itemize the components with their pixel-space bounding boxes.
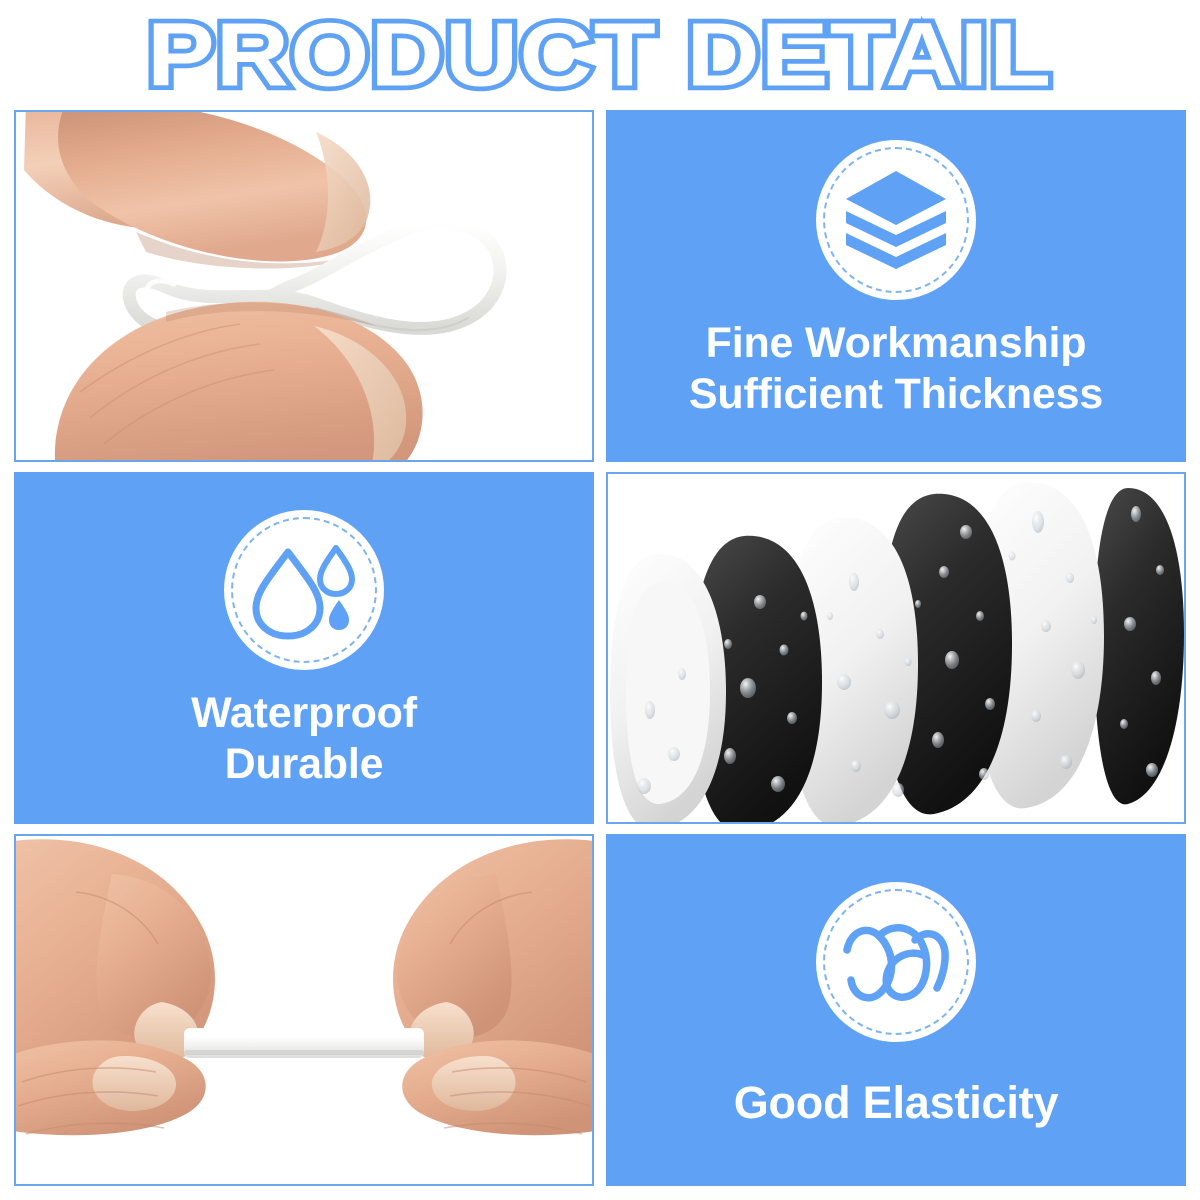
photo-panel-stretch-band: [14, 834, 594, 1186]
layers-icon-badge: [816, 140, 976, 300]
feature-panel-waterproof: Waterproof Durable: [14, 472, 594, 824]
feature-label-line: Sufficient Thickness: [689, 369, 1103, 420]
pinch-ring-photo-illustration: [16, 112, 592, 460]
layers-icon: [842, 167, 950, 273]
feature-panel-workmanship: Fine Workmanship Sufficient Thickness: [606, 110, 1186, 462]
feature-label-line: Waterproof: [191, 688, 417, 739]
feature-panel-elasticity: Good Elasticity: [606, 834, 1186, 1186]
water-drop-icon: [248, 538, 360, 642]
feature-label-line: Fine Workmanship: [689, 318, 1103, 369]
stretch-band-photo-illustration: [16, 836, 592, 1184]
water-drop-icon-badge: [224, 510, 384, 670]
page-title: PRODUCT DETAIL: [147, 10, 1052, 100]
spring-coil-icon: [839, 916, 953, 1008]
photo-panel-wet-rings: [606, 472, 1186, 824]
wet-rings-photo-illustration: [608, 474, 1184, 822]
feature-label-workmanship: Fine Workmanship Sufficient Thickness: [677, 318, 1115, 419]
feature-label-line: Durable: [191, 739, 417, 790]
product-detail-grid: Fine Workmanship Sufficient Thickness Wa…: [14, 110, 1186, 1186]
feature-label-elasticity: Good Elasticity: [722, 1076, 1071, 1129]
photo-panel-pinch-ring: [14, 110, 594, 462]
page-header: PRODUCT DETAIL: [0, 0, 1200, 110]
feature-label-line: Good Elasticity: [734, 1076, 1059, 1129]
spring-coil-icon-badge: [816, 882, 976, 1042]
feature-label-waterproof: Waterproof Durable: [179, 688, 429, 789]
